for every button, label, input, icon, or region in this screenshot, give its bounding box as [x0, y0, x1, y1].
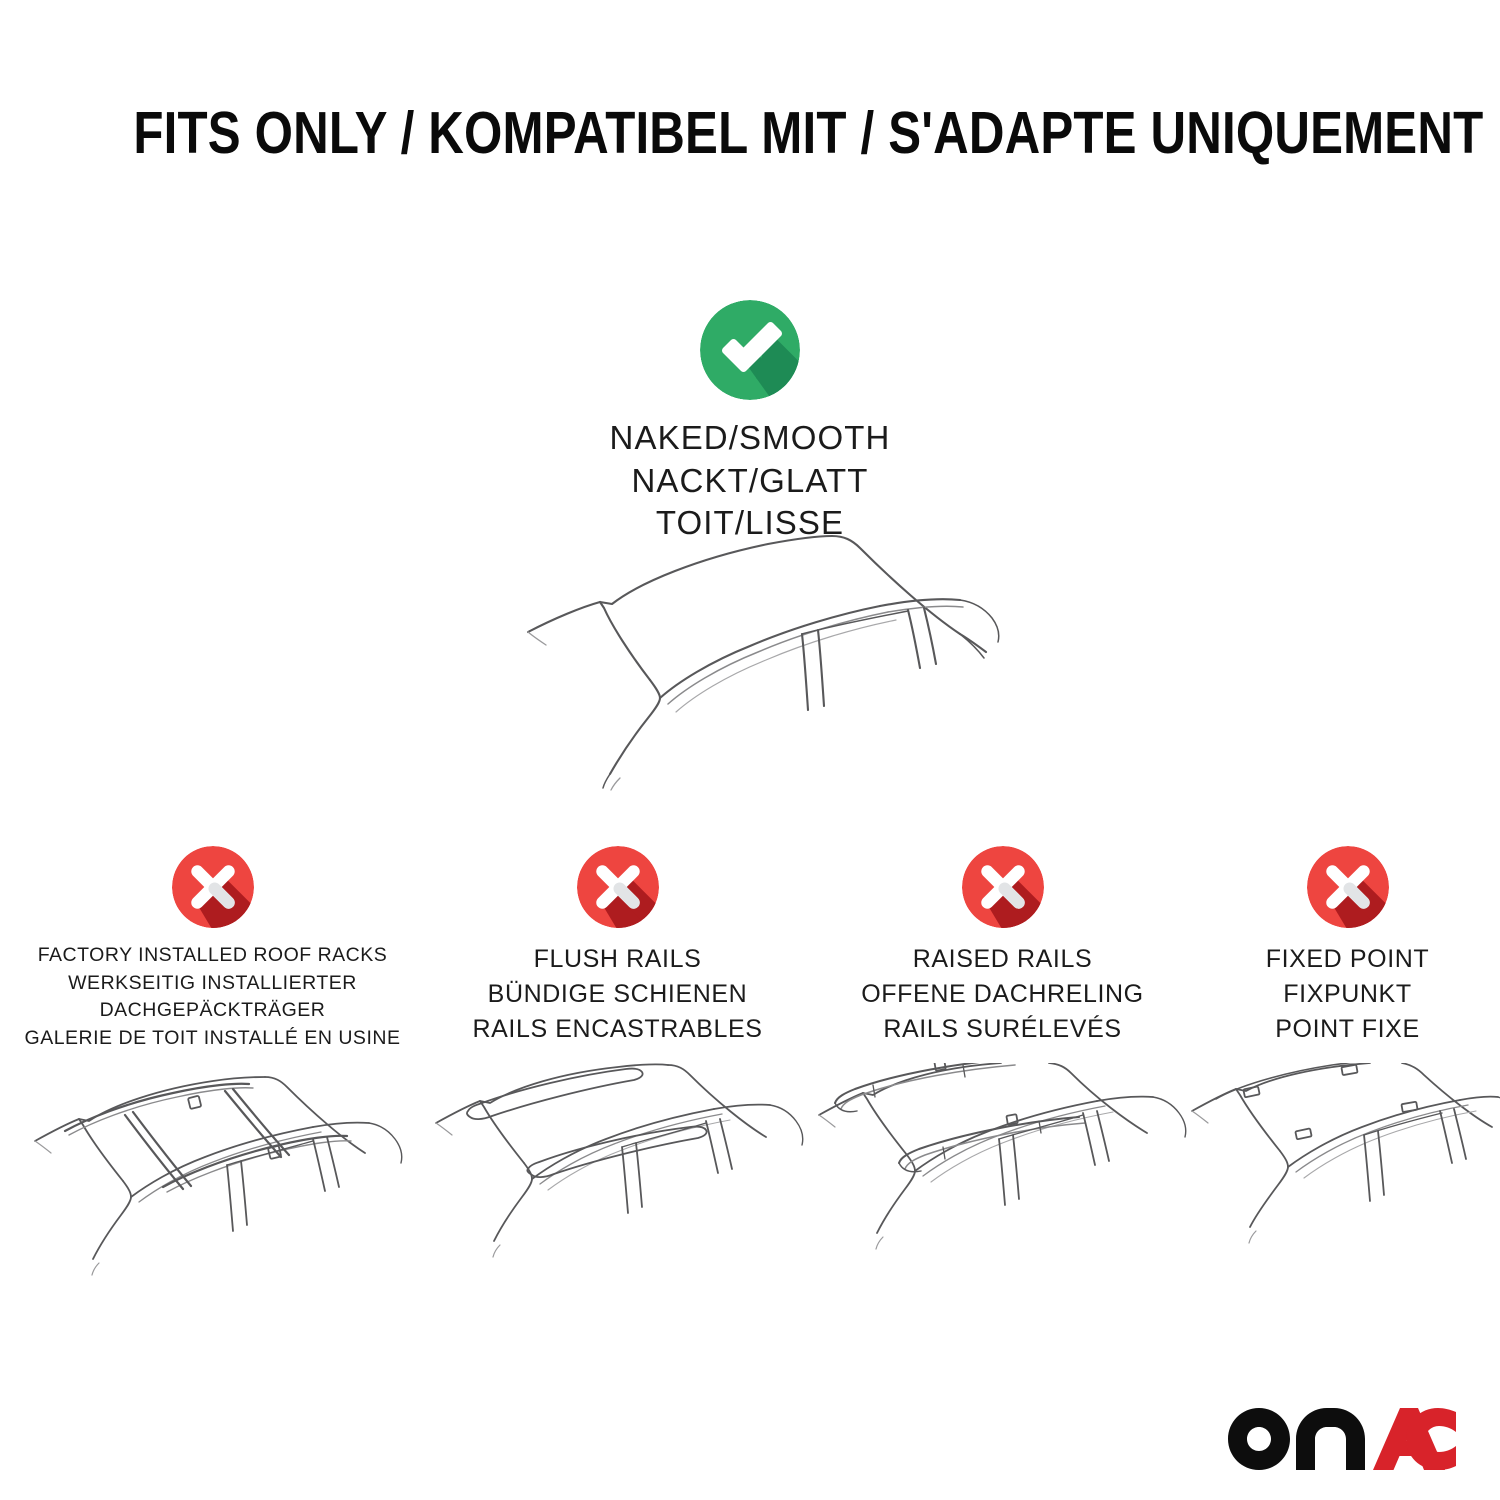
incompatible-label: FIXED POINT FIXPUNKT POINT FIXE — [1266, 942, 1430, 1047]
check-icon — [700, 300, 800, 400]
incompatible-label: RAISED RAILS OFFENE DACHRELING RAILS SUR… — [861, 942, 1143, 1047]
logo-letter-m — [1296, 1408, 1365, 1470]
label-line-4: GALERIE DE TOIT INSTALLÉ EN USINE — [25, 1025, 401, 1053]
label-line-2: WERKSEITIG INSTALLIERTER — [25, 970, 401, 998]
incompatible-section: FACTORY INSTALLED ROOF RACKS WERKSEITIG … — [0, 846, 1500, 1284]
cross-icon — [172, 846, 254, 928]
cross-icon — [577, 846, 659, 928]
incompatible-item-flush-rails: FLUSH RAILS BÜNDIGE SCHIENEN RAILS ENCAS… — [425, 846, 810, 1284]
label-line-1: FIXED POINT — [1266, 942, 1430, 977]
label-line-3: RAILS ENCASTRABLES — [472, 1012, 762, 1047]
label-line-2: BÜNDIGE SCHIENEN — [472, 977, 762, 1012]
label-line-1: FACTORY INSTALLED ROOF RACKS — [25, 942, 401, 970]
page-title: FITS ONLY / KOMPATIBEL MIT / S'ADAPTE UN… — [133, 104, 1483, 163]
label-line-2: OFFENE DACHRELING — [861, 977, 1143, 1012]
compatible-badge-wrap — [0, 300, 1500, 400]
car-roof-naked-smooth-illustration — [500, 522, 1040, 792]
compatible-label-line-2: NACKT/GLATT — [0, 460, 1500, 503]
incompatible-item-raised-rails: RAISED RAILS OFFENE DACHRELING RAILS SUR… — [810, 846, 1195, 1284]
car-roof-raised-rails-illustration — [813, 1063, 1193, 1278]
title-bar: FITS ONLY / KOMPATIBEL MIT / S'ADAPTE UN… — [0, 104, 1500, 163]
incompatible-label: FACTORY INSTALLED ROOF RACKS WERKSEITIG … — [25, 942, 401, 1053]
incompatible-label: FLUSH RAILS BÜNDIGE SCHIENEN RAILS ENCAS… — [472, 942, 762, 1047]
label-line-2: FIXPUNKT — [1266, 977, 1430, 1012]
cross-icon — [1307, 846, 1389, 928]
label-line-3: POINT FIXE — [1266, 1012, 1430, 1047]
label-line-1: FLUSH RAILS — [472, 942, 762, 977]
omac-logo — [1228, 1408, 1456, 1470]
compatible-label-line-1: NAKED/SMOOTH — [0, 417, 1500, 460]
label-line-3: DACHGEPÄCKTRÄGER — [25, 997, 401, 1025]
cross-icon — [962, 846, 1044, 928]
logo-letter-o — [1228, 1408, 1290, 1470]
incompatible-item-fixed-point: FIXED POINT FIXPUNKT POINT FIXE — [1195, 846, 1500, 1284]
label-line-3: RAILS SURÉLEVÉS — [861, 1012, 1143, 1047]
compatible-section: NAKED/SMOOTH NACKT/GLATT TOIT/LISSE — [0, 300, 1500, 545]
incompatible-item-factory-installed-roof-racks: FACTORY INSTALLED ROOF RACKS WERKSEITIG … — [0, 846, 425, 1284]
car-roof-fixed-point-illustration — [1188, 1063, 1500, 1278]
label-line-1: RAISED RAILS — [861, 942, 1143, 977]
car-roof-factory-racks-illustration — [13, 1069, 413, 1284]
car-roof-flush-rails-illustration — [428, 1063, 808, 1278]
